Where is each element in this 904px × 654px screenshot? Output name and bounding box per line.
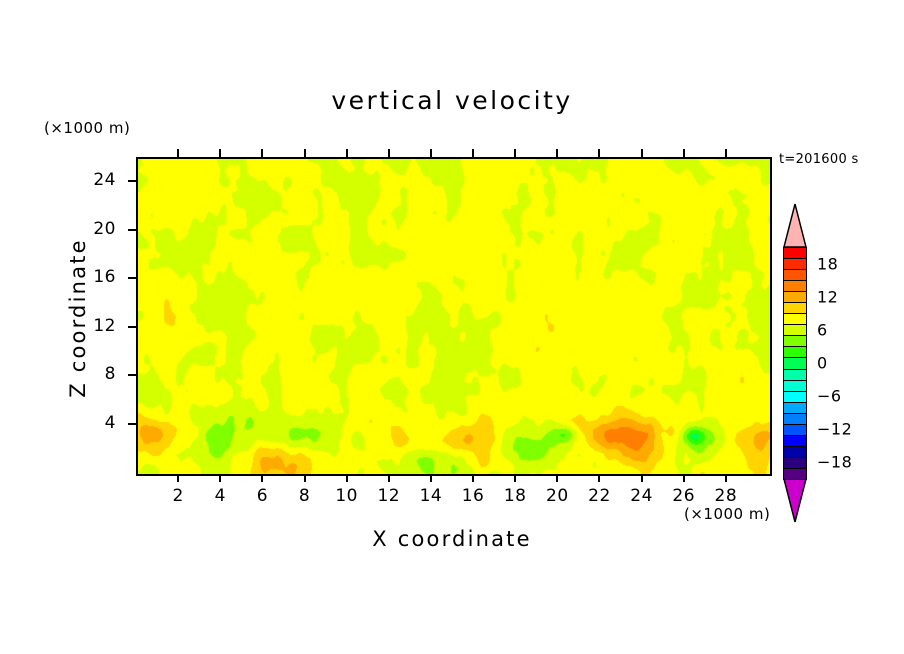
x-tick-mark-top — [177, 149, 179, 157]
figure-canvas: vertical velocity (×1000 m) t=201600 s 2… — [0, 0, 904, 654]
x-tick-mark — [556, 474, 558, 482]
x-tick-mark — [641, 474, 643, 482]
x-tick-mark-top — [641, 149, 643, 157]
x-tick-mark-top — [725, 149, 727, 157]
colorbar-tick-label: 0 — [817, 354, 828, 373]
x-tick-mark-top — [556, 149, 558, 157]
x-tick-mark — [514, 474, 516, 482]
colorbar-tick-label: −6 — [817, 387, 842, 406]
colorbar-cap-top — [783, 203, 807, 247]
timestamp-annotation: t=201600 s — [779, 152, 859, 167]
colorbar-cap-bottom — [783, 479, 807, 523]
x-tick-mark — [346, 474, 348, 482]
page-title: vertical velocity — [136, 86, 768, 115]
y-tick-mark — [128, 326, 136, 328]
x-tick-mark — [219, 474, 221, 482]
colorbar-tick-label: −12 — [817, 420, 852, 439]
y-tick-mark — [128, 423, 136, 425]
x-tick-mark-top — [472, 149, 474, 157]
x-tick-mark — [683, 474, 685, 482]
vertical-velocity-field — [138, 159, 770, 474]
contour-plot-area — [136, 157, 772, 476]
colorbar-tick-label: 12 — [817, 287, 838, 306]
x-tick-mark-top — [261, 149, 263, 157]
x-tick-mark-top — [598, 149, 600, 157]
x-tick-mark-top — [346, 149, 348, 157]
y-axis-unit-label: (×1000 m) — [44, 119, 130, 137]
x-tick-mark-top — [514, 149, 516, 157]
x-tick-mark — [304, 474, 306, 482]
x-axis-title: X coordinate — [136, 527, 768, 551]
x-tick-mark-top — [219, 149, 221, 157]
x-axis-unit-label: (×1000 m) — [684, 505, 770, 523]
x-tick-label: 28 — [696, 486, 756, 506]
x-tick-mark-top — [388, 149, 390, 157]
x-tick-mark — [598, 474, 600, 482]
x-tick-mark-top — [430, 149, 432, 157]
colorbar-tick-label: 18 — [817, 254, 838, 273]
y-tick-mark — [128, 374, 136, 376]
y-axis-title: Z coordinate — [66, 198, 90, 438]
x-tick-mark — [177, 474, 179, 482]
y-tick-mark — [128, 277, 136, 279]
colorbar-tick-label: 6 — [817, 320, 828, 339]
x-tick-mark — [388, 474, 390, 482]
y-tick-mark — [128, 229, 136, 231]
x-tick-mark — [472, 474, 474, 482]
y-tick-label: 24 — [54, 170, 116, 190]
x-tick-mark-top — [304, 149, 306, 157]
x-tick-mark — [725, 474, 727, 482]
x-tick-mark — [430, 474, 432, 482]
colorbar-tick-label: −18 — [817, 453, 852, 472]
y-tick-mark — [128, 180, 136, 182]
colorbar-legend: 181260−6−12−18 — [783, 203, 807, 523]
x-tick-mark-top — [683, 149, 685, 157]
x-tick-mark — [261, 474, 263, 482]
